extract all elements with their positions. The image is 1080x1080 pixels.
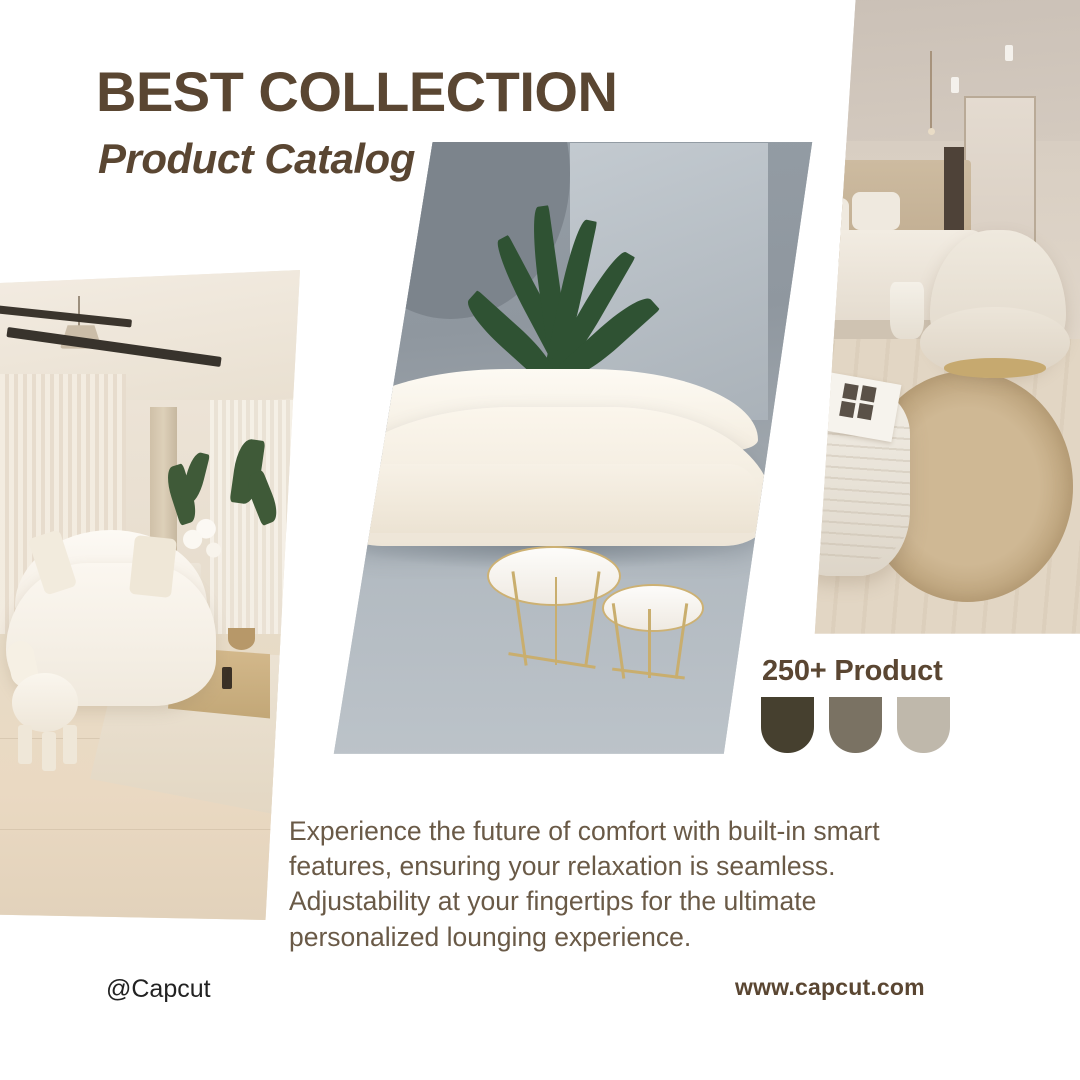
description-text: Experience the future of comfort with bu… bbox=[289, 814, 959, 955]
stool-leg-2 bbox=[42, 732, 56, 771]
spotlight-1 bbox=[951, 77, 959, 93]
studio-scene bbox=[300, 130, 820, 760]
twig-bud-1 bbox=[796, 282, 800, 286]
book-square-4 bbox=[857, 403, 873, 420]
table-large-leg-3 bbox=[555, 577, 558, 665]
round-stool bbox=[12, 673, 78, 732]
twig-bud-2 bbox=[803, 294, 807, 298]
swatch-dark-olive[interactable] bbox=[761, 697, 814, 753]
book-square-2 bbox=[860, 385, 876, 402]
book-square-3 bbox=[839, 401, 855, 418]
product-count-label: 250+ Product bbox=[762, 655, 943, 688]
dark-cup bbox=[222, 667, 232, 689]
throw-pillow-right bbox=[129, 534, 177, 597]
page-subtitle: Product Catalog bbox=[98, 138, 415, 180]
pendant-bulb-icon bbox=[928, 128, 935, 135]
spotlight-2 bbox=[1005, 45, 1013, 61]
pendant-cord bbox=[78, 296, 80, 329]
page-title: BEST COLLECTION bbox=[96, 64, 617, 120]
stone-table-texture bbox=[774, 422, 910, 563]
social-handle: @Capcut bbox=[106, 975, 211, 1004]
small-ottoman bbox=[890, 282, 924, 340]
floor-seam-2 bbox=[0, 829, 300, 830]
book-square-1 bbox=[842, 383, 858, 400]
twig-bud-3 bbox=[798, 311, 802, 315]
bed-pillow-2 bbox=[852, 192, 900, 230]
color-swatch-group bbox=[761, 697, 950, 753]
sofa-seat bbox=[362, 464, 757, 533]
lounge-chair-gold-base bbox=[944, 358, 1046, 377]
stool-leg-1 bbox=[18, 725, 32, 764]
table-small-leg-3 bbox=[648, 609, 651, 678]
studio-sofa-photo bbox=[300, 130, 820, 760]
round-puff bbox=[300, 483, 347, 540]
bedroom-photo bbox=[740, 0, 1080, 640]
bedroom-scene bbox=[740, 0, 1080, 640]
living-room-scene bbox=[0, 270, 300, 920]
ceramic-vase bbox=[788, 333, 812, 397]
living-room-photo bbox=[0, 270, 300, 920]
pendant-cord bbox=[930, 51, 932, 134]
stool-leg-3 bbox=[63, 725, 77, 764]
swatch-taupe[interactable] bbox=[829, 697, 882, 753]
ando-book bbox=[817, 372, 901, 442]
swatch-light-greige[interactable] bbox=[897, 697, 950, 753]
poster-canvas: BEST COLLECTION Product Catalog bbox=[0, 0, 1080, 1080]
dried-twig bbox=[798, 282, 800, 340]
website-url[interactable]: www.capcut.com bbox=[735, 974, 925, 1001]
